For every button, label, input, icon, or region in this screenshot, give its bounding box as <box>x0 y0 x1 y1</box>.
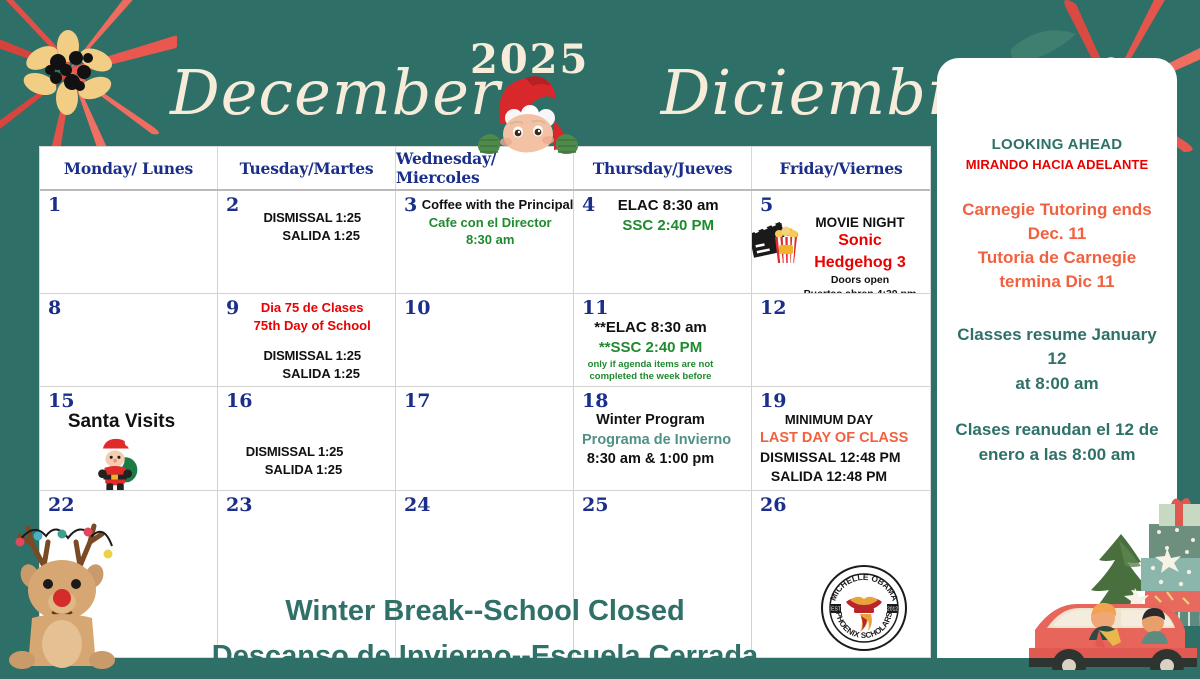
movie-name-line2: Hedgehog 3 <box>796 252 924 274</box>
day-cell-12[interactable]: 12 <box>752 294 930 386</box>
meeting-note-line1: only if agenda items are not <box>582 359 719 372</box>
day-cell-17[interactable]: 17 <box>396 387 574 490</box>
calendar-body: 1 2 DISMISSAL 1:25 SALIDA 1:25 3 Coffee … <box>40 191 930 657</box>
day-cell-11[interactable]: 11 **ELAC 8:30 am **SSC 2:40 PM only if … <box>574 294 752 386</box>
dismissal-label: DISMISSAL 1:25 <box>244 209 381 227</box>
day-number: 17 <box>404 392 430 411</box>
classes-resume-note-en: Classes resume January 12 at 8:00 am <box>947 323 1167 397</box>
day-cell-8[interactable]: 8 <box>40 294 218 386</box>
winter-program-en: Winter Program <box>582 411 719 431</box>
day-number: 15 <box>48 392 74 411</box>
winter-program-es: Programa de Invierno <box>582 431 719 451</box>
looking-ahead-heading-en: LOOKING AHEAD <box>947 136 1167 153</box>
day-cell-24[interactable]: 24 <box>396 491 574 657</box>
day-cell-19[interactable]: 19 MINIMUM DAY LAST DAY OF CLASS DISMISS… <box>752 387 930 490</box>
day-cell-4[interactable]: 4 ELAC 8:30 am SSC 2:40 PM <box>574 191 752 293</box>
calendar-week-row: 1 2 DISMISSAL 1:25 SALIDA 1:25 3 Coffee … <box>40 191 930 294</box>
santa-claus-icon <box>92 435 142 490</box>
holiday-car-with-gifts-icon <box>995 440 1200 670</box>
last-day-of-class-label: LAST DAY OF CLASS <box>760 429 898 449</box>
day-cell-5[interactable]: 5 <box>752 191 930 293</box>
carnegie-es-line2: termina Dic 11 <box>947 270 1167 294</box>
salida-label: SALIDA 12:48 PM <box>760 467 898 486</box>
ssc-meeting: SSC 2:40 PM <box>600 216 737 236</box>
day-number: 2 <box>226 196 239 215</box>
day-cell-23[interactable]: 23 <box>218 491 396 657</box>
day-number: 8 <box>48 299 61 318</box>
carnegie-en-line1: Carnegie Tutoring ends <box>947 198 1167 222</box>
dismissal-label: DISMISSAL 1:25 <box>226 443 363 461</box>
doors-open-en: Doors open <box>796 273 924 287</box>
day-number: 10 <box>404 299 430 318</box>
day-number: 1 <box>48 196 61 215</box>
day-cell-25[interactable]: 25 <box>574 491 752 657</box>
day-number: 19 <box>760 392 786 411</box>
day-cell-15[interactable]: 15 Santa Visits <box>40 387 218 490</box>
day-cell-16[interactable]: 16 DISMISSAL 1:25 SALIDA 1:25 <box>218 387 396 490</box>
day-number: 26 <box>760 496 786 515</box>
day-number: 24 <box>404 496 430 515</box>
dow-friday: Friday/Viernes <box>752 147 930 189</box>
elac-meeting: **ELAC 8:30 am <box>582 318 719 338</box>
santa-visits-label: Santa Visits <box>58 411 185 433</box>
day-number: 12 <box>760 299 786 318</box>
day-cell-1[interactable]: 1 <box>40 191 218 293</box>
day-number: 9 <box>226 299 239 318</box>
calendar-grid: Monday/ Lunes Tuesday/Martes Wednesday/ … <box>40 147 930 657</box>
poinsettia-flower-icon <box>0 0 177 166</box>
day75-es: Dia 75 de Clases <box>244 299 381 317</box>
day75-en: 75th Day of School <box>244 317 381 335</box>
day-number: 25 <box>582 496 608 515</box>
classes-resume-en-line1: Classes resume January 12 <box>947 323 1167 372</box>
event-line-en: Coffee with the Principal <box>422 196 559 214</box>
calendar-week-row: 8 9 Dia 75 de Clases 75th Day of School … <box>40 294 930 387</box>
salida-label: SALIDA 1:25 <box>226 461 363 479</box>
carnegie-tutoring-note: Carnegie Tutoring ends Dec. 11 Tutoria d… <box>947 198 1167 295</box>
day-cell-3[interactable]: 3 Coffee with the Principal Cafe con el … <box>396 191 574 293</box>
dow-tuesday: Tuesday/Martes <box>218 147 396 189</box>
school-logo: MICHELLE OBAMA PHOENIX SCHOLARS EST 2012 <box>820 564 908 652</box>
day-number: 16 <box>226 392 252 411</box>
looking-ahead-heading-es: MIRANDO HACIA ADELANTE <box>947 157 1167 172</box>
reindeer-icon <box>2 510 132 670</box>
carnegie-en-line2: Dec. 11 <box>947 222 1167 246</box>
santa-peeking-icon <box>470 72 600 154</box>
day-number: 3 <box>404 196 417 215</box>
calendar-week-row: 22 23 24 25 26 <box>40 491 930 657</box>
logo-year-badge: 2012 <box>887 607 898 613</box>
ssc-meeting: **SSC 2:40 PM <box>582 338 719 358</box>
classes-resume-en-line2: at 8:00 am <box>947 372 1167 397</box>
meeting-note-line2: completed the week before <box>582 371 719 384</box>
day-cell-2[interactable]: 2 DISMISSAL 1:25 SALIDA 1:25 <box>218 191 396 293</box>
calendar-week-row: 15 Santa Visits <box>40 387 930 491</box>
salida-label: SALIDA 1:25 <box>244 365 381 383</box>
day-cell-9[interactable]: 9 Dia 75 de Clases 75th Day of School DI… <box>218 294 396 386</box>
month-title-english: December <box>170 56 501 129</box>
dismissal-label: DISMISSAL 1:25 <box>244 347 381 365</box>
event-time: 8:30 am <box>422 231 559 249</box>
day-number: 11 <box>582 299 608 318</box>
movie-clapperboard-popcorn-icon <box>752 213 802 265</box>
day-cell-18[interactable]: 18 Winter Program Programa de Invierno 8… <box>574 387 752 490</box>
dow-monday: Monday/ Lunes <box>40 147 218 189</box>
movie-name-line1: Sonic <box>796 230 924 252</box>
elac-meeting: ELAC 8:30 am <box>600 196 737 216</box>
doors-open-es: Puertas abren 4:30 pm <box>796 287 924 293</box>
day-number: 23 <box>226 496 252 515</box>
movie-night-title: MOVIE NIGHT <box>796 215 924 230</box>
minimum-day-label: MINIMUM DAY <box>760 411 898 429</box>
day-cell-10[interactable]: 10 <box>396 294 574 386</box>
winter-program-times: 8:30 am & 1:00 pm <box>582 450 719 470</box>
dismissal-label: DISMISSAL 12:48 PM <box>760 448 898 467</box>
day-number: 18 <box>582 392 608 411</box>
salida-label: SALIDA 1:25 <box>244 227 381 245</box>
logo-est-badge: EST <box>831 607 841 613</box>
day-number: 4 <box>582 196 595 215</box>
carnegie-es-line1: Tutoria de Carnegie <box>947 246 1167 270</box>
dow-thursday: Thursday/Jueves <box>574 147 752 189</box>
event-line-es: Cafe con el Director <box>422 214 559 232</box>
